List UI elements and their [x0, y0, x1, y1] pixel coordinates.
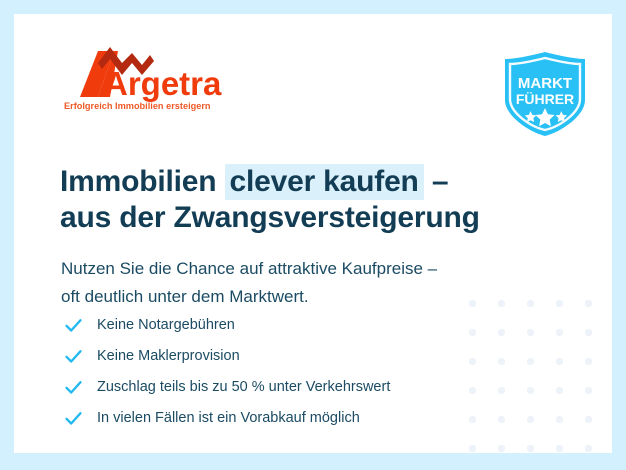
headline-line-1: Immobilien clever kaufen –: [60, 164, 580, 200]
promo-banner: Argetra Erfolgreich Immobilien ersteiger…: [0, 0, 626, 470]
list-item-label: In vielen Fällen ist ein Vorabkauf mögli…: [97, 409, 360, 428]
subheading-line-1: Nutzen Sie die Chance auf attraktive Kau…: [61, 255, 581, 283]
list-item: Zuschlag teils bis zu 50 % unter Verkehr…: [64, 372, 534, 403]
list-item-label: Keine Notargebühren: [97, 316, 235, 335]
list-item: In vielen Fällen ist ein Vorabkauf mögli…: [64, 403, 534, 434]
headline-highlight: clever kaufen: [225, 164, 424, 200]
list-item: Keine Notargebühren: [64, 310, 534, 341]
check-icon: [64, 347, 83, 366]
benefits-list: Keine Notargebühren Keine Maklerprovisio…: [64, 310, 534, 434]
argetra-logo[interactable]: Argetra Erfolgreich Immobilien ersteiger…: [58, 41, 258, 121]
headline-text-before: Immobilien: [60, 165, 225, 198]
list-item-label: Keine Maklerprovision: [97, 347, 240, 366]
list-item: Keine Maklerprovision: [64, 341, 534, 372]
check-icon: [64, 316, 83, 335]
logo-wordmark: Argetra: [104, 65, 222, 102]
subheading: Nutzen Sie die Chance auf attraktive Kau…: [61, 255, 581, 311]
subheading-line-2: oft deutlich unter dem Marktwert.: [61, 283, 581, 311]
headline: Immobilien clever kaufen – aus der Zwang…: [60, 164, 580, 236]
badge-line1: MARKT: [518, 75, 572, 92]
marktfuehrer-badge: MARKT FÜHRER: [499, 50, 591, 138]
check-icon: [64, 378, 83, 397]
logo-tagline: Erfolgreich Immobilien ersteigern: [64, 101, 211, 111]
badge-line2: FÜHRER: [516, 91, 574, 107]
headline-text-after: –: [424, 165, 449, 198]
headline-line-2: aus der Zwangsversteigerung: [60, 200, 580, 236]
banner-card: Argetra Erfolgreich Immobilien ersteiger…: [14, 14, 612, 453]
list-item-label: Zuschlag teils bis zu 50 % unter Verkehr…: [97, 378, 390, 397]
check-icon: [64, 409, 83, 428]
